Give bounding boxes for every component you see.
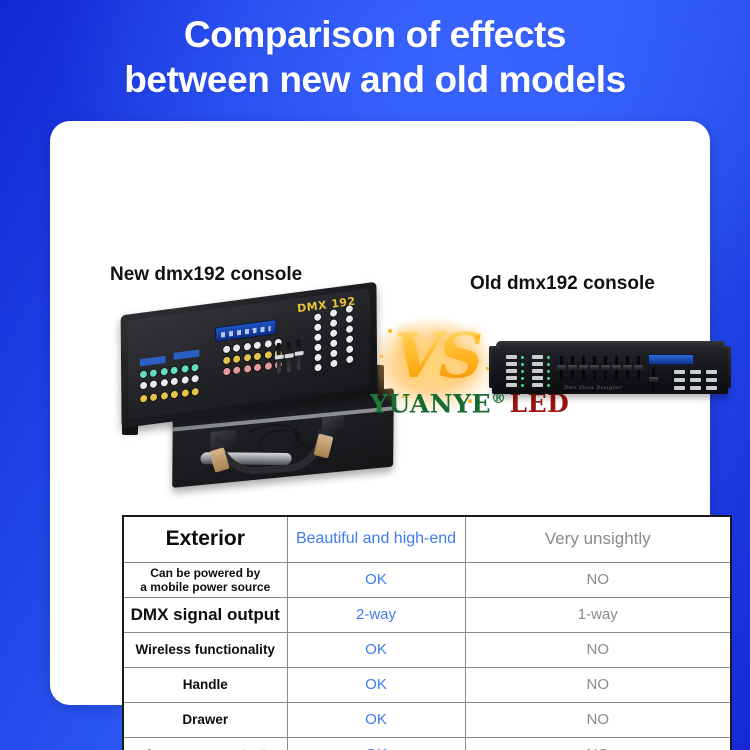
versus-label: VS xyxy=(372,323,502,389)
feature-label: Appearance patent xyxy=(123,737,287,750)
old-model-value: Very unsightly xyxy=(465,516,731,562)
old-console-silkscreen: Dmx Show Designer xyxy=(564,385,622,391)
poster-canvas: Comparison of effects between new and ol… xyxy=(0,0,750,750)
table-row: Handle OK NO xyxy=(123,667,731,702)
new-model-value: OK xyxy=(287,702,465,737)
spark-1 xyxy=(388,329,392,333)
watermark-brand: UANYE xyxy=(388,389,491,418)
old-model-value: NO xyxy=(465,632,731,667)
new-model-value: OK xyxy=(287,632,465,667)
page-title: Comparison of effects between new and ol… xyxy=(0,12,750,102)
title-line-1: Comparison of effects xyxy=(0,12,750,57)
feature-label: Handle xyxy=(123,667,287,702)
old-model-value: 1-way xyxy=(465,597,731,632)
feature-label: Wireless functionality xyxy=(123,632,287,667)
feature-label: Can be powered by a mobile power source xyxy=(123,562,287,597)
old-model-value: NO xyxy=(465,667,731,702)
blue-tab-2 xyxy=(174,349,200,359)
button-column-right-1 xyxy=(314,313,321,371)
table-row: DMX signal output 2-way 1-way xyxy=(123,597,731,632)
new-model-value: 2-way xyxy=(287,597,465,632)
blue-tab-1 xyxy=(140,356,166,366)
new-console-image: DMX 192 xyxy=(120,299,400,489)
table-row: Drawer OK NO xyxy=(123,702,731,737)
new-model-value: Beautiful and high-end xyxy=(287,516,465,562)
fader-2 xyxy=(287,341,291,372)
fader-3 xyxy=(297,339,301,370)
table-row: Exterior Beautiful and high-end Very uns… xyxy=(123,516,731,562)
new-model-value: OK xyxy=(287,562,465,597)
old-console-face: Dmx Show Designer xyxy=(492,348,728,394)
lcd-display xyxy=(215,319,277,342)
title-line-2: between new and old models xyxy=(0,57,750,102)
feature-label: DMX signal output xyxy=(123,597,287,632)
new-console-caption: New dmx192 console xyxy=(110,264,302,286)
feature-label-line-2: a mobile power source xyxy=(140,580,270,594)
table-row: Can be powered by a mobile power source … xyxy=(123,562,731,597)
old-console-image: Dmx Show Designer xyxy=(492,341,728,407)
old-model-value: NO xyxy=(465,737,731,750)
old-lcd-display xyxy=(648,354,694,365)
old-model-value: NO xyxy=(465,562,731,597)
fader-1 xyxy=(277,343,281,374)
feature-label-line-1: Can be powered by xyxy=(150,566,260,580)
new-model-value: OK xyxy=(287,667,465,702)
old-model-value: NO xyxy=(465,702,731,737)
button-column-right-2 xyxy=(330,309,337,367)
feature-label: Exterior xyxy=(123,516,287,562)
comparison-table: Exterior Beautiful and high-end Very uns… xyxy=(122,515,732,750)
spark-3 xyxy=(476,335,480,339)
content-card: New dmx192 console Old dmx192 console xyxy=(50,121,710,705)
table-row: Appearance patent OK NO xyxy=(123,737,731,750)
button-column-right-3 xyxy=(346,305,353,363)
new-model-value: OK xyxy=(287,737,465,750)
new-console-panel: DMX 192 xyxy=(128,289,371,420)
button-row-3 xyxy=(140,388,199,403)
feature-label: Drawer xyxy=(123,702,287,737)
table-row: Wireless functionality OK NO xyxy=(123,632,731,667)
product-photo-area: DMX 192 xyxy=(102,293,750,493)
spark-2 xyxy=(380,355,383,358)
watermark-initial: Y xyxy=(370,389,388,418)
old-console-caption: Old dmx192 console xyxy=(470,273,655,295)
